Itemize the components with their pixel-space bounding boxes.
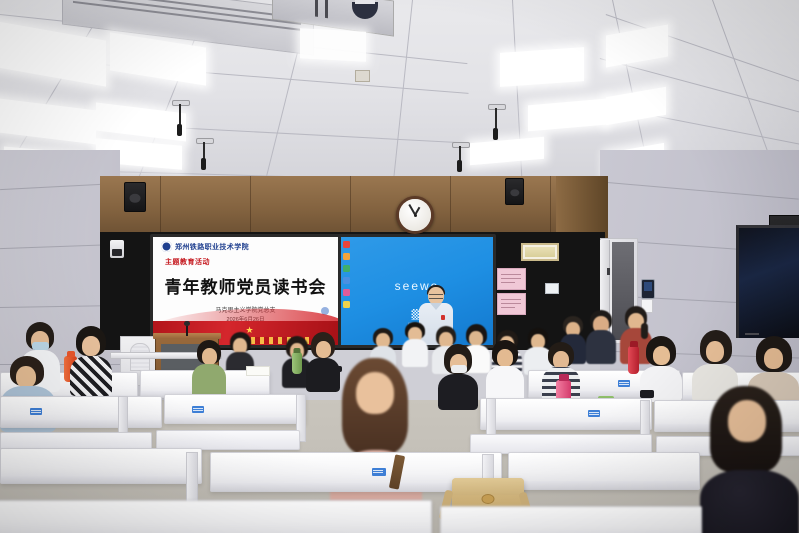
back-wall-wood-panel [100, 176, 605, 234]
ceiling-light-panel [96, 102, 186, 141]
logo-mark-icon [161, 241, 172, 252]
glasses-icon [429, 294, 443, 299]
ceiling-grid-line [512, 0, 523, 196]
wall-clock [396, 196, 434, 234]
face-mask [451, 365, 467, 373]
desk-foreground-closest [0, 500, 432, 533]
ceiling-light-panel [606, 25, 668, 68]
desk-foreground [508, 452, 700, 490]
attendee [438, 344, 478, 406]
desk [164, 394, 306, 424]
notice-pink-upper [497, 268, 526, 290]
asset-sticker [618, 380, 630, 387]
attendee [586, 310, 616, 362]
attendee [70, 326, 112, 392]
asset-sticker [588, 410, 600, 417]
podium-microphone [186, 324, 188, 336]
notice-pink-lower [497, 293, 526, 315]
hanging-microphone [457, 160, 462, 172]
ceiling-light-panel [470, 137, 544, 165]
door-hinge [607, 268, 610, 275]
ceiling-grid-line [392, 0, 413, 195]
paper-sheet [246, 366, 270, 376]
desktop-icon[interactable] [343, 265, 350, 272]
mic-mount [452, 142, 470, 148]
seewo-brand-text: seewo [341, 279, 493, 293]
wall-mounted-display [736, 225, 799, 338]
desk [480, 398, 652, 430]
desktop-icon[interactable] [343, 301, 350, 308]
mic-mount [488, 104, 506, 110]
bag-flap [452, 478, 524, 495]
green-tumbler [292, 352, 302, 374]
face-mask [32, 342, 49, 350]
wall-small-card [545, 283, 559, 294]
wall-camera [110, 240, 124, 258]
event-tag: 主题教育活动 [165, 257, 210, 267]
asset-sticker [30, 408, 42, 415]
hanging-microphone [493, 128, 498, 140]
hanging-microphone [201, 158, 206, 170]
desk [0, 396, 162, 428]
hanging-microphone [177, 124, 182, 136]
desk-foreground-closest [440, 506, 702, 533]
attendee-foreground [700, 386, 799, 533]
ceiling-light-panel [528, 99, 606, 132]
ceiling-light-panel [500, 47, 584, 87]
attendee [192, 340, 226, 396]
speaker-right-rear [505, 178, 524, 205]
classroom-photo: 郑州铁路职业技术学院 主题教育活动 青年教师党员读书会 马克思主义学院党总支 2… [0, 0, 799, 533]
institution-logo: 郑州铁路职业技术学院 [161, 241, 249, 252]
bench [156, 430, 300, 450]
bag-clasp-icon [482, 494, 495, 504]
desktop-icon[interactable] [343, 241, 350, 248]
ceiling-light-panel [300, 28, 366, 61]
ceiling-light-panel [0, 98, 96, 145]
attendee [640, 336, 682, 398]
presentation-slide: 郑州铁路职业技术学院 主题教育活动 青年教师党员读书会 马克思主义学院党总支 2… [153, 237, 338, 345]
smoke-detector-icon [355, 70, 370, 82]
desktop-icon[interactable] [343, 253, 350, 260]
speaker-left [124, 182, 146, 212]
bench [470, 434, 652, 454]
red-thermos [628, 346, 639, 374]
ceiling-light-panel [606, 87, 666, 126]
asset-sticker [192, 406, 204, 413]
asset-sticker [372, 468, 386, 476]
projection-screen-left[interactable]: 郑州铁路职业技术学院 主题教育活动 青年教师党员读书会 马克思主义学院党总支 2… [150, 234, 341, 348]
attendee [486, 340, 524, 398]
desk-foreground [0, 448, 202, 484]
framed-wall-plaque [521, 243, 559, 261]
institution-name: 郑州铁路职业技术学院 [175, 242, 249, 252]
mic-mount [196, 138, 214, 144]
slide-title: 青年教师党员读书会 [153, 273, 338, 298]
desktop-icon-list[interactable] [343, 241, 350, 308]
smartphone [640, 390, 654, 398]
access-control-panel[interactable] [641, 279, 655, 299]
mic-mount [172, 100, 190, 106]
party-badge-icon [441, 315, 445, 320]
